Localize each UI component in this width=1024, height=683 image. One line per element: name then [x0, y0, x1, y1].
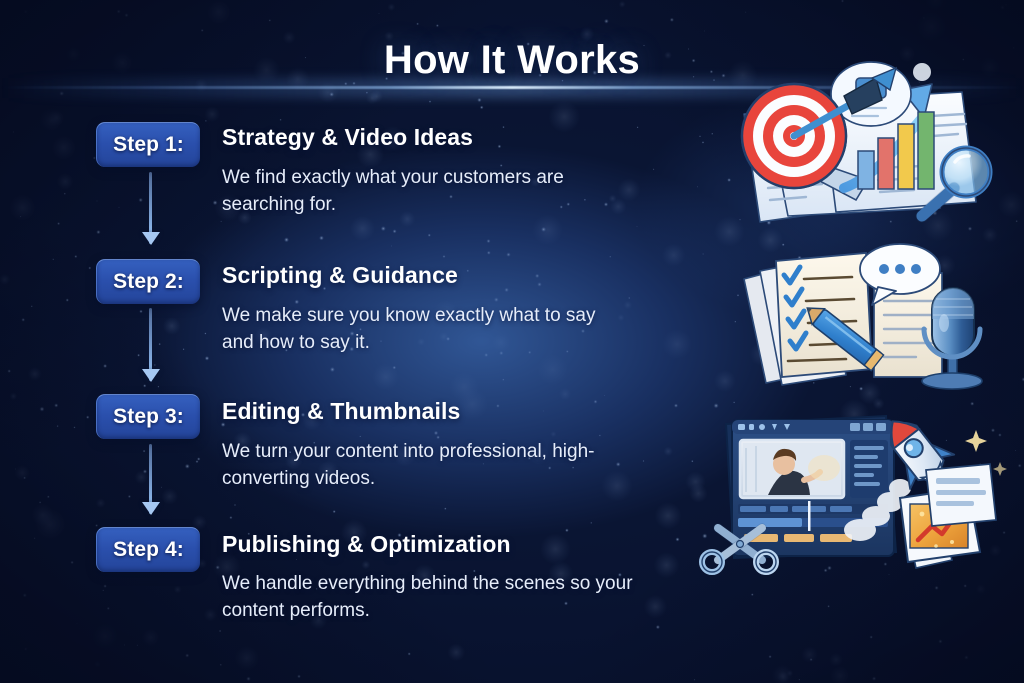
step-body-4: We handle everything behind the scenes s…	[222, 570, 652, 624]
connector-arrowhead-icon	[142, 502, 160, 515]
step-heading-3: Editing & Thumbnails	[222, 398, 460, 425]
step-badge-label: Step 4:	[113, 538, 184, 562]
step-heading-2: Scripting & Guidance	[222, 262, 458, 289]
editing-illustration	[700, 402, 1020, 577]
timeline-clips	[744, 534, 852, 542]
step-badge-2[interactable]: Step 2:	[96, 259, 200, 304]
step-body-3: We turn your content into professional, …	[222, 438, 632, 492]
step-heading-4: Publishing & Optimization	[222, 531, 511, 558]
editor-side-panel	[850, 440, 888, 498]
editor-toolbar	[732, 420, 894, 434]
step-heading-1: Strategy & Video Ideas	[222, 124, 473, 151]
step-connector-2-3	[142, 308, 160, 381]
step-badge-label: Step 2:	[113, 270, 184, 294]
step-badge-3[interactable]: Step 3:	[96, 394, 200, 439]
published-document	[926, 464, 996, 526]
step-badge-label: Step 1:	[113, 133, 184, 157]
step-badge-1[interactable]: Step 1:	[96, 122, 200, 167]
connector-arrowhead-icon	[142, 369, 160, 382]
step-badge-label: Step 3:	[113, 405, 184, 429]
steps-list: Step 1: Strategy & Video Ideas We find e…	[0, 0, 700, 683]
step-badge-4[interactable]: Step 4:	[96, 527, 200, 572]
video-preview	[740, 440, 844, 498]
timeline-playhead	[808, 501, 811, 531]
strategy-research-illustration	[726, 56, 1012, 236]
step-body-1: We find exactly what your customers are …	[222, 164, 622, 218]
scripting-illustration	[726, 243, 1012, 395]
step-body-2: We make sure you know exactly what to sa…	[222, 302, 622, 356]
step-connector-3-4	[142, 444, 160, 514]
step-connector-1-2	[142, 172, 160, 244]
sparkle-icon	[913, 63, 931, 81]
infographic-canvas: How It Works Step 1: Strategy & Video Id…	[0, 0, 1024, 683]
connector-arrowhead-icon	[142, 232, 160, 245]
